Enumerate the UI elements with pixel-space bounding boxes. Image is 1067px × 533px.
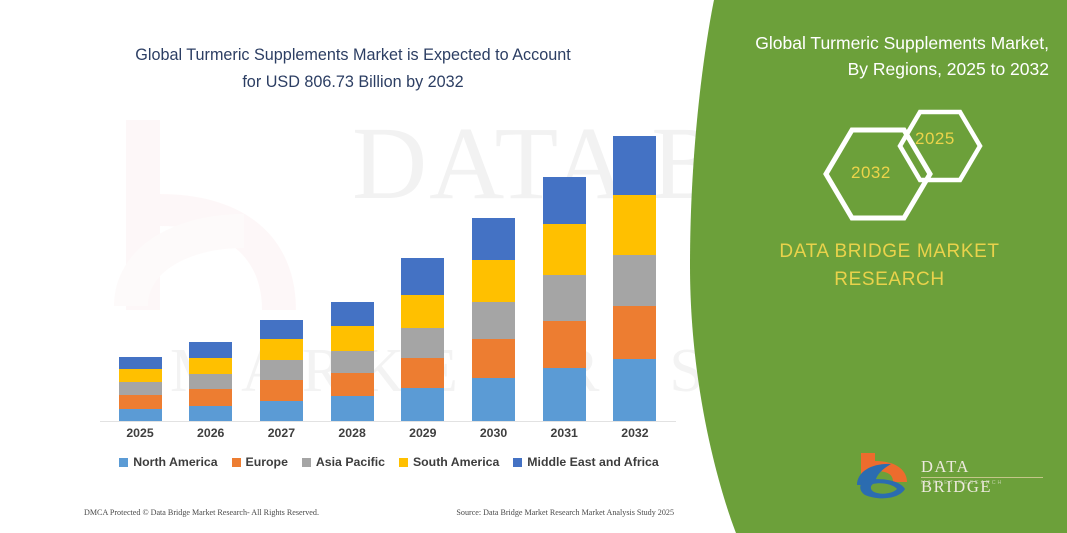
stacked-bar bbox=[119, 357, 162, 422]
page-title: Global Turmeric Supplements Market is Ex… bbox=[68, 42, 638, 96]
bar-segment bbox=[401, 388, 444, 422]
chart-plot-area bbox=[100, 126, 675, 422]
bar-column bbox=[464, 218, 524, 422]
x-axis-label: 2026 bbox=[181, 426, 241, 446]
bar-segment bbox=[543, 368, 586, 422]
bar-column bbox=[322, 302, 382, 422]
legend-label: Middle East and Africa bbox=[527, 455, 658, 469]
legend-item: Middle East and Africa bbox=[513, 455, 658, 469]
bar-segment bbox=[260, 380, 303, 400]
bar-segment bbox=[119, 369, 162, 382]
bar-segment bbox=[189, 406, 232, 422]
footer: DMCA Protected © Data Bridge Market Rese… bbox=[84, 508, 674, 517]
bar-segment bbox=[119, 395, 162, 408]
bar-segment bbox=[189, 389, 232, 405]
stacked-bar bbox=[543, 177, 586, 422]
company-logo: DATA BRIDGE MARKET RESEARCH bbox=[855, 451, 1045, 505]
x-axis-labels: 20252026202720282029203020312032 bbox=[100, 426, 675, 446]
bar-segment bbox=[401, 358, 444, 389]
stacked-bar bbox=[401, 258, 444, 422]
panel-title-line1: Global Turmeric Supplements Market, bbox=[722, 30, 1049, 56]
bar-segment bbox=[119, 409, 162, 422]
x-axis-label: 2027 bbox=[251, 426, 311, 446]
bar-segment bbox=[331, 351, 374, 373]
bar-segment bbox=[613, 136, 656, 195]
logo-mark-icon bbox=[855, 451, 915, 503]
bar-segment bbox=[543, 321, 586, 368]
x-axis-label: 2032 bbox=[605, 426, 665, 446]
bar-segment bbox=[260, 339, 303, 359]
logo-divider bbox=[921, 477, 1043, 478]
legend-swatch bbox=[119, 458, 128, 467]
footer-source: Source: Data Bridge Market Research Mark… bbox=[456, 508, 674, 517]
stacked-bar bbox=[331, 302, 374, 422]
bar-segment bbox=[331, 373, 374, 396]
x-axis-line bbox=[100, 421, 676, 422]
bar-segment bbox=[472, 378, 515, 422]
legend-swatch bbox=[302, 458, 311, 467]
bar-segment bbox=[119, 357, 162, 369]
legend-label: North America bbox=[133, 455, 217, 469]
bar-segment bbox=[472, 302, 515, 340]
logo-tagline-text: MARKET RESEARCH bbox=[921, 480, 1003, 486]
hexagon-label-2025: 2025 bbox=[915, 129, 955, 149]
brand-name-line1: DATA BRIDGE MARKET bbox=[732, 238, 1047, 266]
stacked-bar bbox=[189, 342, 232, 422]
x-axis-label: 2029 bbox=[393, 426, 453, 446]
bar-segment bbox=[331, 396, 374, 422]
bar-column bbox=[110, 357, 170, 422]
footer-copyright: DMCA Protected © Data Bridge Market Rese… bbox=[84, 508, 319, 517]
x-axis-label: 2030 bbox=[464, 426, 524, 446]
bar-segment bbox=[613, 255, 656, 306]
stacked-bar-chart bbox=[100, 126, 675, 422]
legend-item: Europe bbox=[232, 455, 288, 469]
x-axis-label: 2031 bbox=[534, 426, 594, 446]
bar-column bbox=[534, 177, 594, 422]
legend-item: Asia Pacific bbox=[302, 455, 385, 469]
bar-segment bbox=[331, 302, 374, 326]
stacked-bar bbox=[260, 320, 303, 422]
bar-segment bbox=[401, 258, 444, 296]
panel-title: Global Turmeric Supplements Market, By R… bbox=[722, 30, 1049, 82]
legend-label: Europe bbox=[246, 455, 288, 469]
hexagon-group bbox=[712, 104, 1067, 214]
bar-segment bbox=[472, 339, 515, 378]
bar-column bbox=[181, 342, 241, 422]
bar-segment bbox=[189, 374, 232, 389]
legend-swatch bbox=[513, 458, 522, 467]
bar-column bbox=[251, 320, 311, 422]
legend-swatch bbox=[399, 458, 408, 467]
hexagon-label-2032: 2032 bbox=[851, 163, 891, 183]
legend-item: South America bbox=[399, 455, 499, 469]
page-title-line2: for USD 806.73 Billion by 2032 bbox=[68, 69, 638, 96]
bar-column bbox=[605, 136, 665, 422]
legend-item: North America bbox=[119, 455, 217, 469]
bar-segment bbox=[543, 224, 586, 275]
panel-title-line2: By Regions, 2025 to 2032 bbox=[722, 56, 1049, 82]
green-panel-content: Global Turmeric Supplements Market, By R… bbox=[712, 0, 1067, 533]
bar-segment bbox=[613, 195, 656, 254]
stacked-bar bbox=[472, 218, 515, 422]
bar-segment bbox=[613, 359, 656, 422]
bar-segment bbox=[260, 320, 303, 339]
bar-segment bbox=[119, 382, 162, 395]
bar-segment bbox=[543, 177, 586, 224]
stacked-bar bbox=[613, 136, 656, 422]
bar-segment bbox=[189, 342, 232, 357]
bar-segment bbox=[401, 328, 444, 358]
brand-name: DATA BRIDGE MARKET RESEARCH bbox=[732, 238, 1047, 294]
legend-label: South America bbox=[413, 455, 499, 469]
legend-swatch bbox=[232, 458, 241, 467]
bar-segment bbox=[543, 275, 586, 321]
bar-segment bbox=[189, 358, 232, 374]
bar-column bbox=[393, 258, 453, 422]
bar-segment bbox=[613, 306, 656, 359]
bar-segment bbox=[260, 360, 303, 380]
bar-segment bbox=[331, 326, 374, 350]
bar-segment bbox=[401, 295, 444, 328]
brand-name-line2: RESEARCH bbox=[732, 266, 1047, 294]
x-axis-label: 2028 bbox=[322, 426, 382, 446]
x-axis-label: 2025 bbox=[110, 426, 170, 446]
chart-legend: North AmericaEuropeAsia PacificSouth Ame… bbox=[100, 455, 678, 469]
legend-label: Asia Pacific bbox=[316, 455, 385, 469]
bar-segment bbox=[260, 401, 303, 422]
infographic-root: DATA BRIDGE MARKET RESEARCH Global Turme… bbox=[0, 0, 1067, 533]
page-title-line1: Global Turmeric Supplements Market is Ex… bbox=[68, 42, 638, 69]
bar-segment bbox=[472, 260, 515, 302]
bar-segment bbox=[472, 218, 515, 260]
